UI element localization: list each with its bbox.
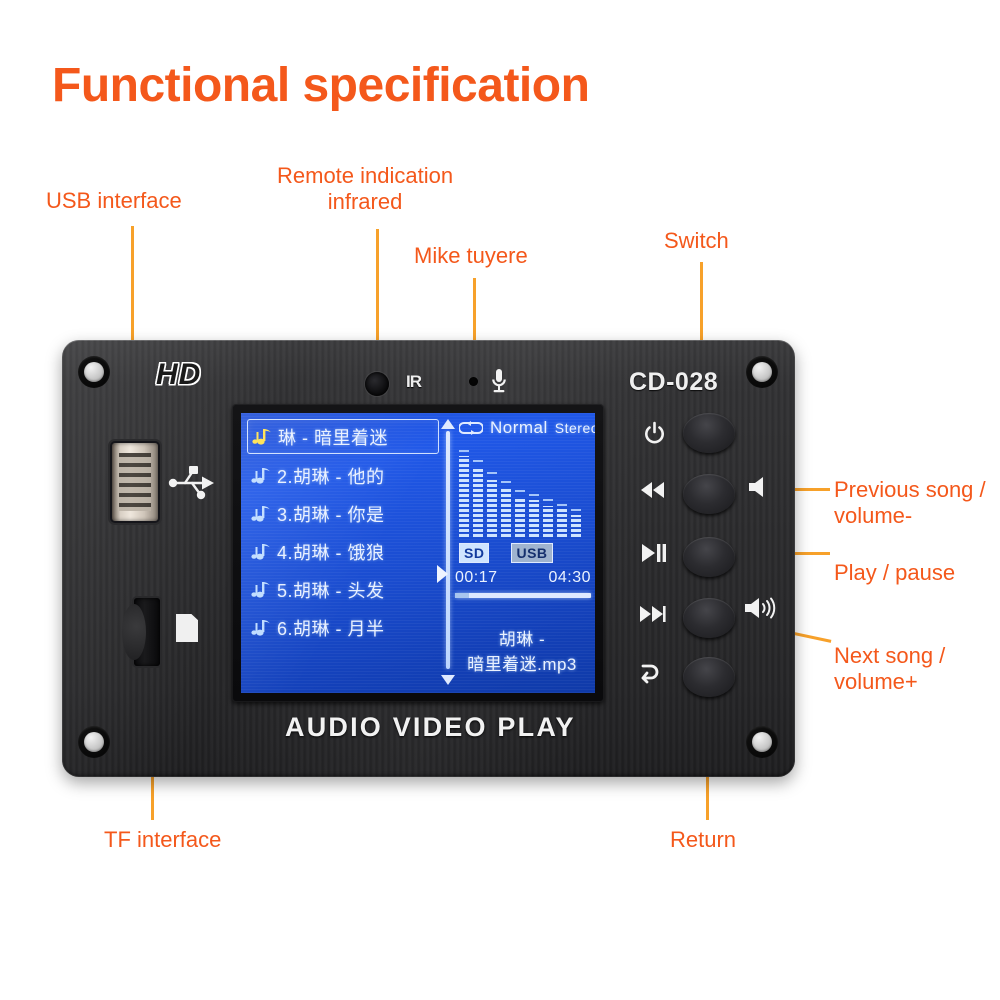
list-item-label: 2.胡琳 - 他的 [277, 463, 385, 489]
callout-mike-tuyere: Mike tuyere [414, 243, 528, 269]
lcd-bezel: 琳 - 暗里着迷 2.胡琳 - 他的 3.胡琳 - 你是 [232, 404, 604, 702]
list-item[interactable]: 琳 - 暗里着迷 [247, 419, 439, 454]
brand-line: AUDIO VIDEO PLAY [285, 712, 576, 743]
list-item[interactable]: 6.胡琳 - 月半 [247, 609, 439, 647]
repeat-icon [459, 420, 483, 436]
status-badge-sd: SD [459, 543, 489, 563]
playlist[interactable]: 琳 - 暗里着迷 2.胡琳 - 他的 3.胡琳 - 你是 [247, 419, 439, 647]
music-note-icon [251, 504, 273, 524]
time-readout: 00:17 04:30 [455, 569, 591, 587]
list-item[interactable]: 5.胡琳 - 头发 [247, 571, 439, 609]
status-bar: Normal Stereo [459, 417, 595, 439]
channel-mode-label: Stereo [555, 420, 595, 436]
spectrum-bar [529, 445, 539, 537]
microphone-icon [489, 368, 509, 394]
volume-up-icon [741, 594, 779, 622]
return-button[interactable] [683, 657, 735, 697]
media-source-badges: SD USB [459, 543, 553, 563]
lcd-screen[interactable]: 琳 - 暗里着迷 2.胡琳 - 他的 3.胡琳 - 你是 [241, 413, 595, 693]
leader-usb-interface [131, 226, 134, 356]
return-arrow-icon [633, 659, 671, 687]
spectrum-bar [501, 445, 511, 537]
now-playing-pointer-icon [437, 565, 448, 583]
screw-top-right [746, 356, 778, 388]
callout-switch: Switch [664, 228, 729, 254]
progress-bar[interactable] [455, 593, 591, 598]
status-badge-usb: USB [511, 543, 552, 563]
tf-card-slot[interactable] [134, 598, 160, 666]
spectrum-bar [543, 445, 553, 537]
microphone-hole [469, 377, 478, 386]
play-pause-button[interactable] [683, 537, 735, 577]
list-item-label: 3.胡琳 - 你是 [277, 501, 385, 527]
now-playing: 胡琳 - 暗里着迷.mp3 [447, 627, 595, 677]
usb-port-tongue [119, 453, 151, 511]
page-title: Functional specification [52, 58, 589, 113]
list-item-label: 4.胡琳 - 饿狼 [277, 539, 385, 565]
screw-bottom-left [78, 726, 110, 758]
music-note-icon [251, 618, 273, 638]
elapsed-time: 00:17 [455, 569, 498, 587]
spectrum-bar [487, 445, 497, 537]
callout-next-song: Next song / volume+ [834, 643, 945, 695]
screw-bottom-right [746, 726, 778, 758]
spectrum-bar [459, 445, 469, 537]
volume-down-icon [743, 473, 781, 501]
callout-usb-interface: USB interface [46, 188, 182, 214]
screw-top-left [78, 356, 110, 388]
spectrum-bar [571, 445, 581, 537]
callout-return: Return [670, 827, 736, 853]
callout-remote-infrared: Remote indication infrared [277, 163, 453, 215]
list-item-label: 5.胡琳 - 头发 [277, 577, 385, 603]
model-number: CD-028 [629, 368, 718, 397]
previous-button[interactable] [683, 474, 735, 514]
now-playing-filename: 暗里着迷.mp3 [447, 652, 595, 677]
fast-forward-icon [633, 600, 671, 628]
progress-bar-fill [455, 593, 469, 598]
callout-previous-song: Previous song / volume- [834, 477, 986, 529]
music-note-icon-selected [252, 427, 274, 447]
list-item-label: 6.胡琳 - 月半 [277, 615, 385, 641]
usb-port[interactable] [112, 443, 158, 521]
list-item[interactable]: 4.胡琳 - 饿狼 [247, 533, 439, 571]
next-button[interactable] [683, 598, 735, 638]
spectrum-bar [557, 445, 567, 537]
play-pause-icon [633, 539, 671, 567]
sd-card-icon [176, 614, 198, 642]
total-time: 04:30 [548, 569, 591, 587]
power-icon [637, 419, 675, 447]
rewind-icon [633, 476, 671, 504]
music-note-icon [251, 580, 273, 600]
callout-tf-interface: TF interface [104, 827, 221, 853]
spectrum-bar [515, 445, 525, 537]
usb-trident-icon [168, 462, 214, 504]
music-note-icon [251, 542, 273, 562]
product-diagram: Functional specification USB interface R… [0, 0, 1000, 1000]
music-note-icon [251, 466, 273, 486]
list-item[interactable]: 2.胡琳 - 他的 [247, 457, 439, 495]
spectrum-analyzer [459, 445, 589, 537]
hd-logo: HD [156, 358, 201, 392]
list-item-label: 琳 - 暗里着迷 [278, 424, 388, 450]
list-item[interactable]: 3.胡琳 - 你是 [247, 495, 439, 533]
callout-play-pause: Play / pause [834, 560, 955, 586]
play-mode-label: Normal [490, 418, 548, 438]
infrared-receiver [365, 372, 389, 396]
ir-label: IR [406, 372, 421, 392]
now-playing-artist: 胡琳 - [447, 627, 595, 652]
spectrum-bar [473, 445, 483, 537]
scroll-up-arrow-icon[interactable] [441, 419, 455, 429]
power-button[interactable] [683, 413, 735, 453]
